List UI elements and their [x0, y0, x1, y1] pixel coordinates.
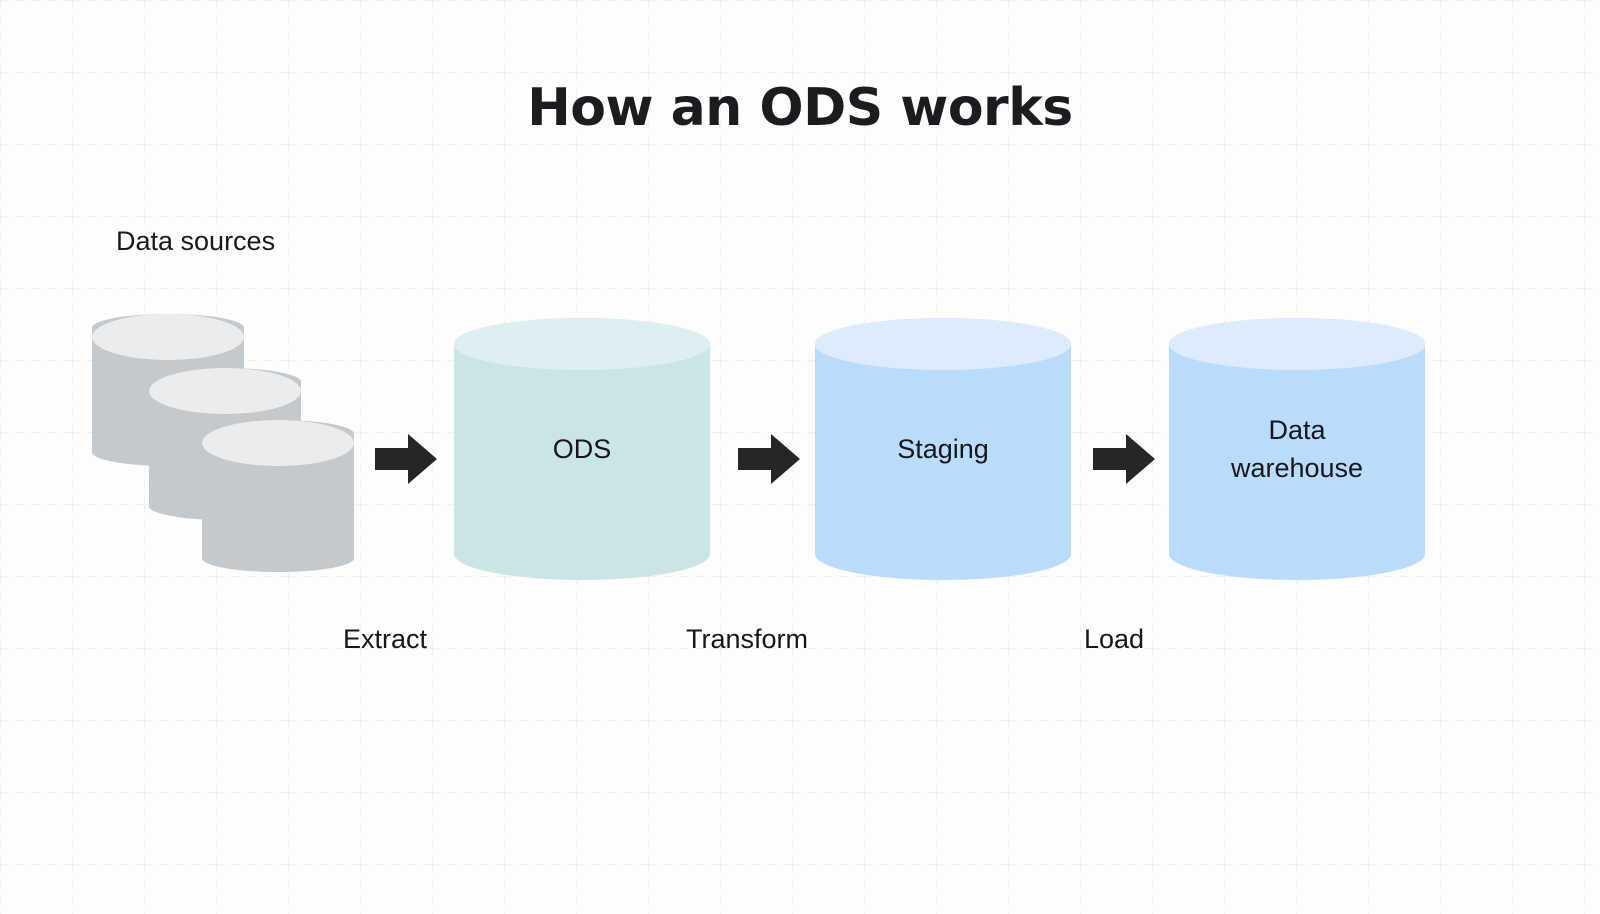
diagram-canvas: How an ODS works Data sources ODS Sta: [0, 0, 1600, 914]
step-label-load: Load: [1084, 624, 1144, 655]
source-cylinder-3: [202, 420, 354, 572]
arrow-right-icon-load: [1093, 432, 1155, 486]
cylinder-top-ellipse: [815, 318, 1071, 370]
cylinder-top-ellipse: [454, 318, 710, 370]
stage-label-ods: ODS: [454, 430, 710, 468]
step-label-transform: Transform: [686, 624, 808, 655]
step-label-extract: Extract: [343, 624, 427, 655]
data-sources-cylinder-stack: [84, 310, 364, 575]
data-sources-label: Data sources: [116, 226, 275, 257]
page-title: How an ODS works: [0, 78, 1600, 138]
stage-label-data-warehouse: Data warehouse: [1169, 411, 1425, 487]
cylinder-top-ellipse: [149, 368, 301, 414]
cylinder-top-ellipse: [1169, 318, 1425, 370]
arrow-right-icon-extract: [375, 432, 437, 486]
stage-cylinder-data-warehouse: Data warehouse: [1169, 318, 1425, 580]
arrow-right-icon-transform: [738, 432, 800, 486]
cylinder-top-ellipse: [92, 314, 244, 360]
cylinder-top-ellipse: [202, 420, 354, 466]
stage-cylinder-staging: Staging: [815, 318, 1071, 580]
stage-cylinder-ods: ODS: [454, 318, 710, 580]
stage-label-staging: Staging: [815, 430, 1071, 468]
